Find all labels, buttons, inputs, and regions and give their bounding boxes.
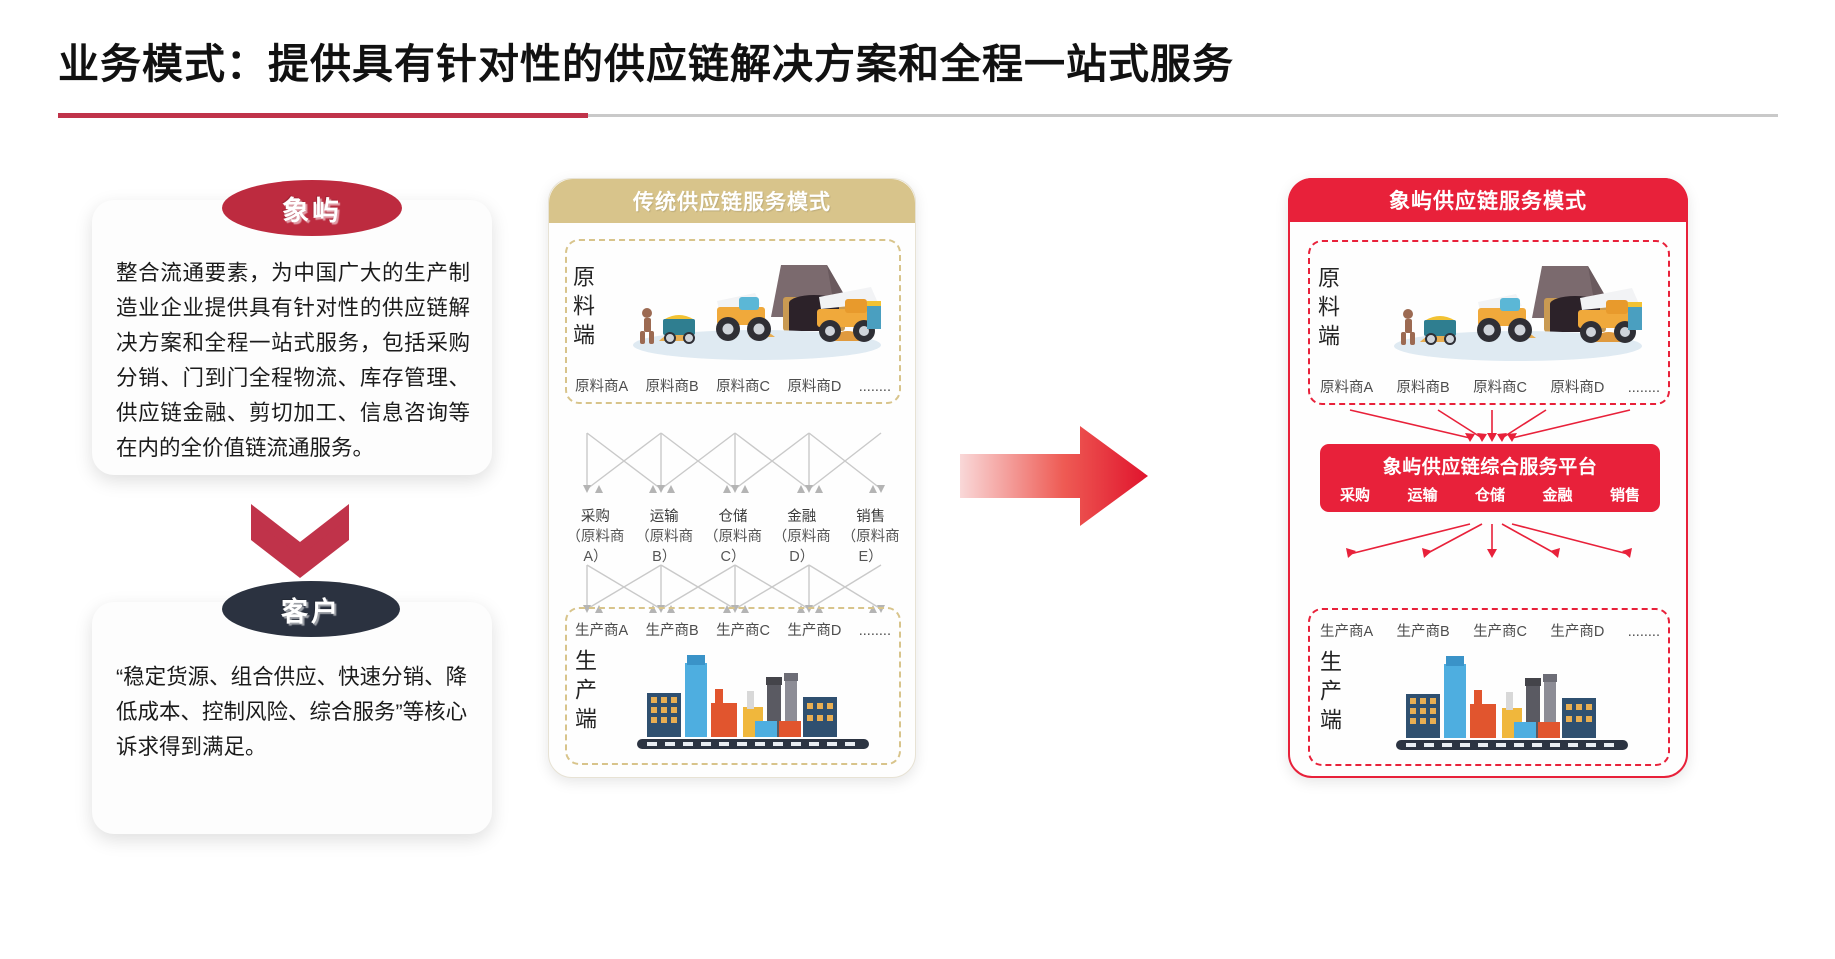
right-raw-supplier: 原料商C	[1473, 376, 1527, 397]
mid-service-name: 运输	[630, 507, 699, 527]
xiangyu-model-panel: 象屿供应链服务模式 原料端	[1288, 178, 1688, 778]
mid-raw-supplier: 原料商A	[575, 375, 628, 396]
right-raw-supplier-more: ........	[1628, 380, 1660, 396]
right-producer: 生产商A	[1320, 620, 1373, 641]
mid-service-sub: （原料商D）	[773, 529, 831, 565]
traditional-model-panel: 传统供应链服务模式 原料端	[548, 178, 916, 778]
transition-arrow-icon	[960, 420, 1150, 532]
mid-raw-supplier: 原料商D	[787, 375, 841, 396]
right-mining-illustration	[1384, 258, 1652, 366]
right-producer-labels: 生产商A 生产商B 生产商C 生产商D ........	[1320, 620, 1660, 641]
double-chevron-icon	[245, 498, 355, 582]
kehu-description: “稳定货源、组合供应、快速分销、降低成本、控制风险、综合服务”等核心诉求得到满足…	[116, 660, 470, 765]
mid-raw-supplier: 原料商C	[716, 375, 770, 396]
mid-service-sub: （原料商E）	[842, 529, 900, 565]
mid-producer: 生产商B	[646, 619, 699, 640]
factory-illustration	[627, 645, 887, 757]
platform-title: 象屿供应链综合服务平台	[1383, 452, 1598, 479]
title-rule-grey	[588, 114, 1778, 117]
traditional-model-title: 传统供应链服务模式	[549, 179, 915, 223]
xiangyu-badge: 象屿	[222, 180, 402, 236]
diverging-arrows-icon	[1340, 522, 1640, 562]
mid-service-item: 仓储 （原料商C）	[699, 507, 768, 567]
platform-box[interactable]: 象屿供应链综合服务平台 采购 运输 仓储 金融 销售	[1320, 444, 1660, 512]
platform-service: 金融	[1542, 484, 1572, 505]
mid-service-item: 运输 （原料商B）	[630, 507, 699, 567]
platform-service: 采购	[1340, 484, 1370, 505]
mid-service-row: 采购 （原料商A） 运输 （原料商B） 仓储 （原料商C） 金融 （原料商D） …	[561, 507, 905, 567]
mid-service-sub: （原料商C）	[704, 529, 762, 565]
mid-service-name: 金融	[767, 507, 836, 527]
mid-producer-more: ........	[859, 623, 891, 639]
mid-raw-supplier-labels: 原料商A 原料商B 原料商C 原料商D ........	[575, 375, 891, 396]
mid-service-name: 采购	[561, 507, 630, 527]
xiangyu-card: 象屿 整合流通要素，为中国广大的生产制造业企业提供具有针对性的供应链解决方案和全…	[92, 200, 492, 475]
xiangyu-badge-label: 象屿	[282, 189, 342, 228]
mid-upper-crossing-lines	[575, 427, 893, 499]
xiangyu-description: 整合流通要素，为中国广大的生产制造业企业提供具有针对性的供应链解决方案和全程一站…	[116, 256, 470, 466]
producer-vertical-label: 生产端	[573, 649, 595, 736]
mid-service-sub: （原料商A）	[566, 529, 624, 565]
platform-service-list: 采购 运输 仓储 金融 销售	[1340, 484, 1640, 505]
right-raw-supplier: 原料商D	[1550, 376, 1604, 397]
right-producer: 生产商B	[1397, 620, 1450, 641]
platform-service: 销售	[1610, 484, 1640, 505]
kehu-card: 客户 “稳定货源、组合供应、快速分销、降低成本、控制风险、综合服务”等核心诉求得…	[92, 602, 492, 834]
xiangyu-model-title: 象屿供应链服务模式	[1288, 178, 1688, 222]
right-raw-supplier-labels: 原料商A 原料商B 原料商C 原料商D ........	[1320, 376, 1660, 397]
right-raw-supplier: 原料商A	[1320, 376, 1373, 397]
platform-service: 仓储	[1475, 484, 1505, 505]
mid-service-item: 采购 （原料商A）	[561, 507, 630, 567]
mid-raw-supplier: 原料商B	[646, 375, 699, 396]
platform-service: 运输	[1407, 484, 1437, 505]
mid-service-name: 仓储	[699, 507, 768, 527]
right-raw-material-vertical-label: 原料端	[1316, 266, 1338, 353]
page-title: 业务模式：提供具有针对性的供应链解决方案和全程一站式服务	[58, 30, 1234, 90]
right-producer-more: ........	[1628, 624, 1660, 640]
converging-arrows-icon	[1340, 408, 1640, 444]
mid-service-sub: （原料商B）	[635, 529, 693, 565]
mid-service-item: 金融 （原料商D）	[767, 507, 836, 567]
kehu-badge-label: 客户	[281, 590, 341, 629]
right-producer-vertical-label: 生产端	[1318, 650, 1340, 737]
right-producer: 生产商C	[1473, 620, 1527, 641]
page-header: 业务模式：提供具有针对性的供应链解决方案和全程一站式服务	[0, 0, 1835, 130]
mid-service-name: 销售	[836, 507, 905, 527]
mid-service-item: 销售 （原料商E）	[836, 507, 905, 567]
mining-illustration	[631, 257, 883, 365]
raw-material-vertical-label: 原料端	[571, 265, 593, 352]
mid-producer: 生产商A	[575, 619, 628, 640]
right-raw-supplier: 原料商B	[1397, 376, 1450, 397]
title-rule-red	[58, 113, 588, 118]
mid-producer: 生产商D	[787, 619, 841, 640]
mid-producer: 生产商C	[716, 619, 770, 640]
right-producer: 生产商D	[1550, 620, 1604, 641]
mid-producer-labels: 生产商A 生产商B 生产商C 生产商D ........	[575, 619, 891, 640]
mid-raw-supplier-more: ........	[859, 379, 891, 395]
left-column: 象屿 整合流通要素，为中国广大的生产制造业企业提供具有针对性的供应链解决方案和全…	[0, 160, 520, 950]
right-factory-illustration	[1378, 646, 1654, 758]
kehu-badge: 客户	[222, 581, 400, 637]
